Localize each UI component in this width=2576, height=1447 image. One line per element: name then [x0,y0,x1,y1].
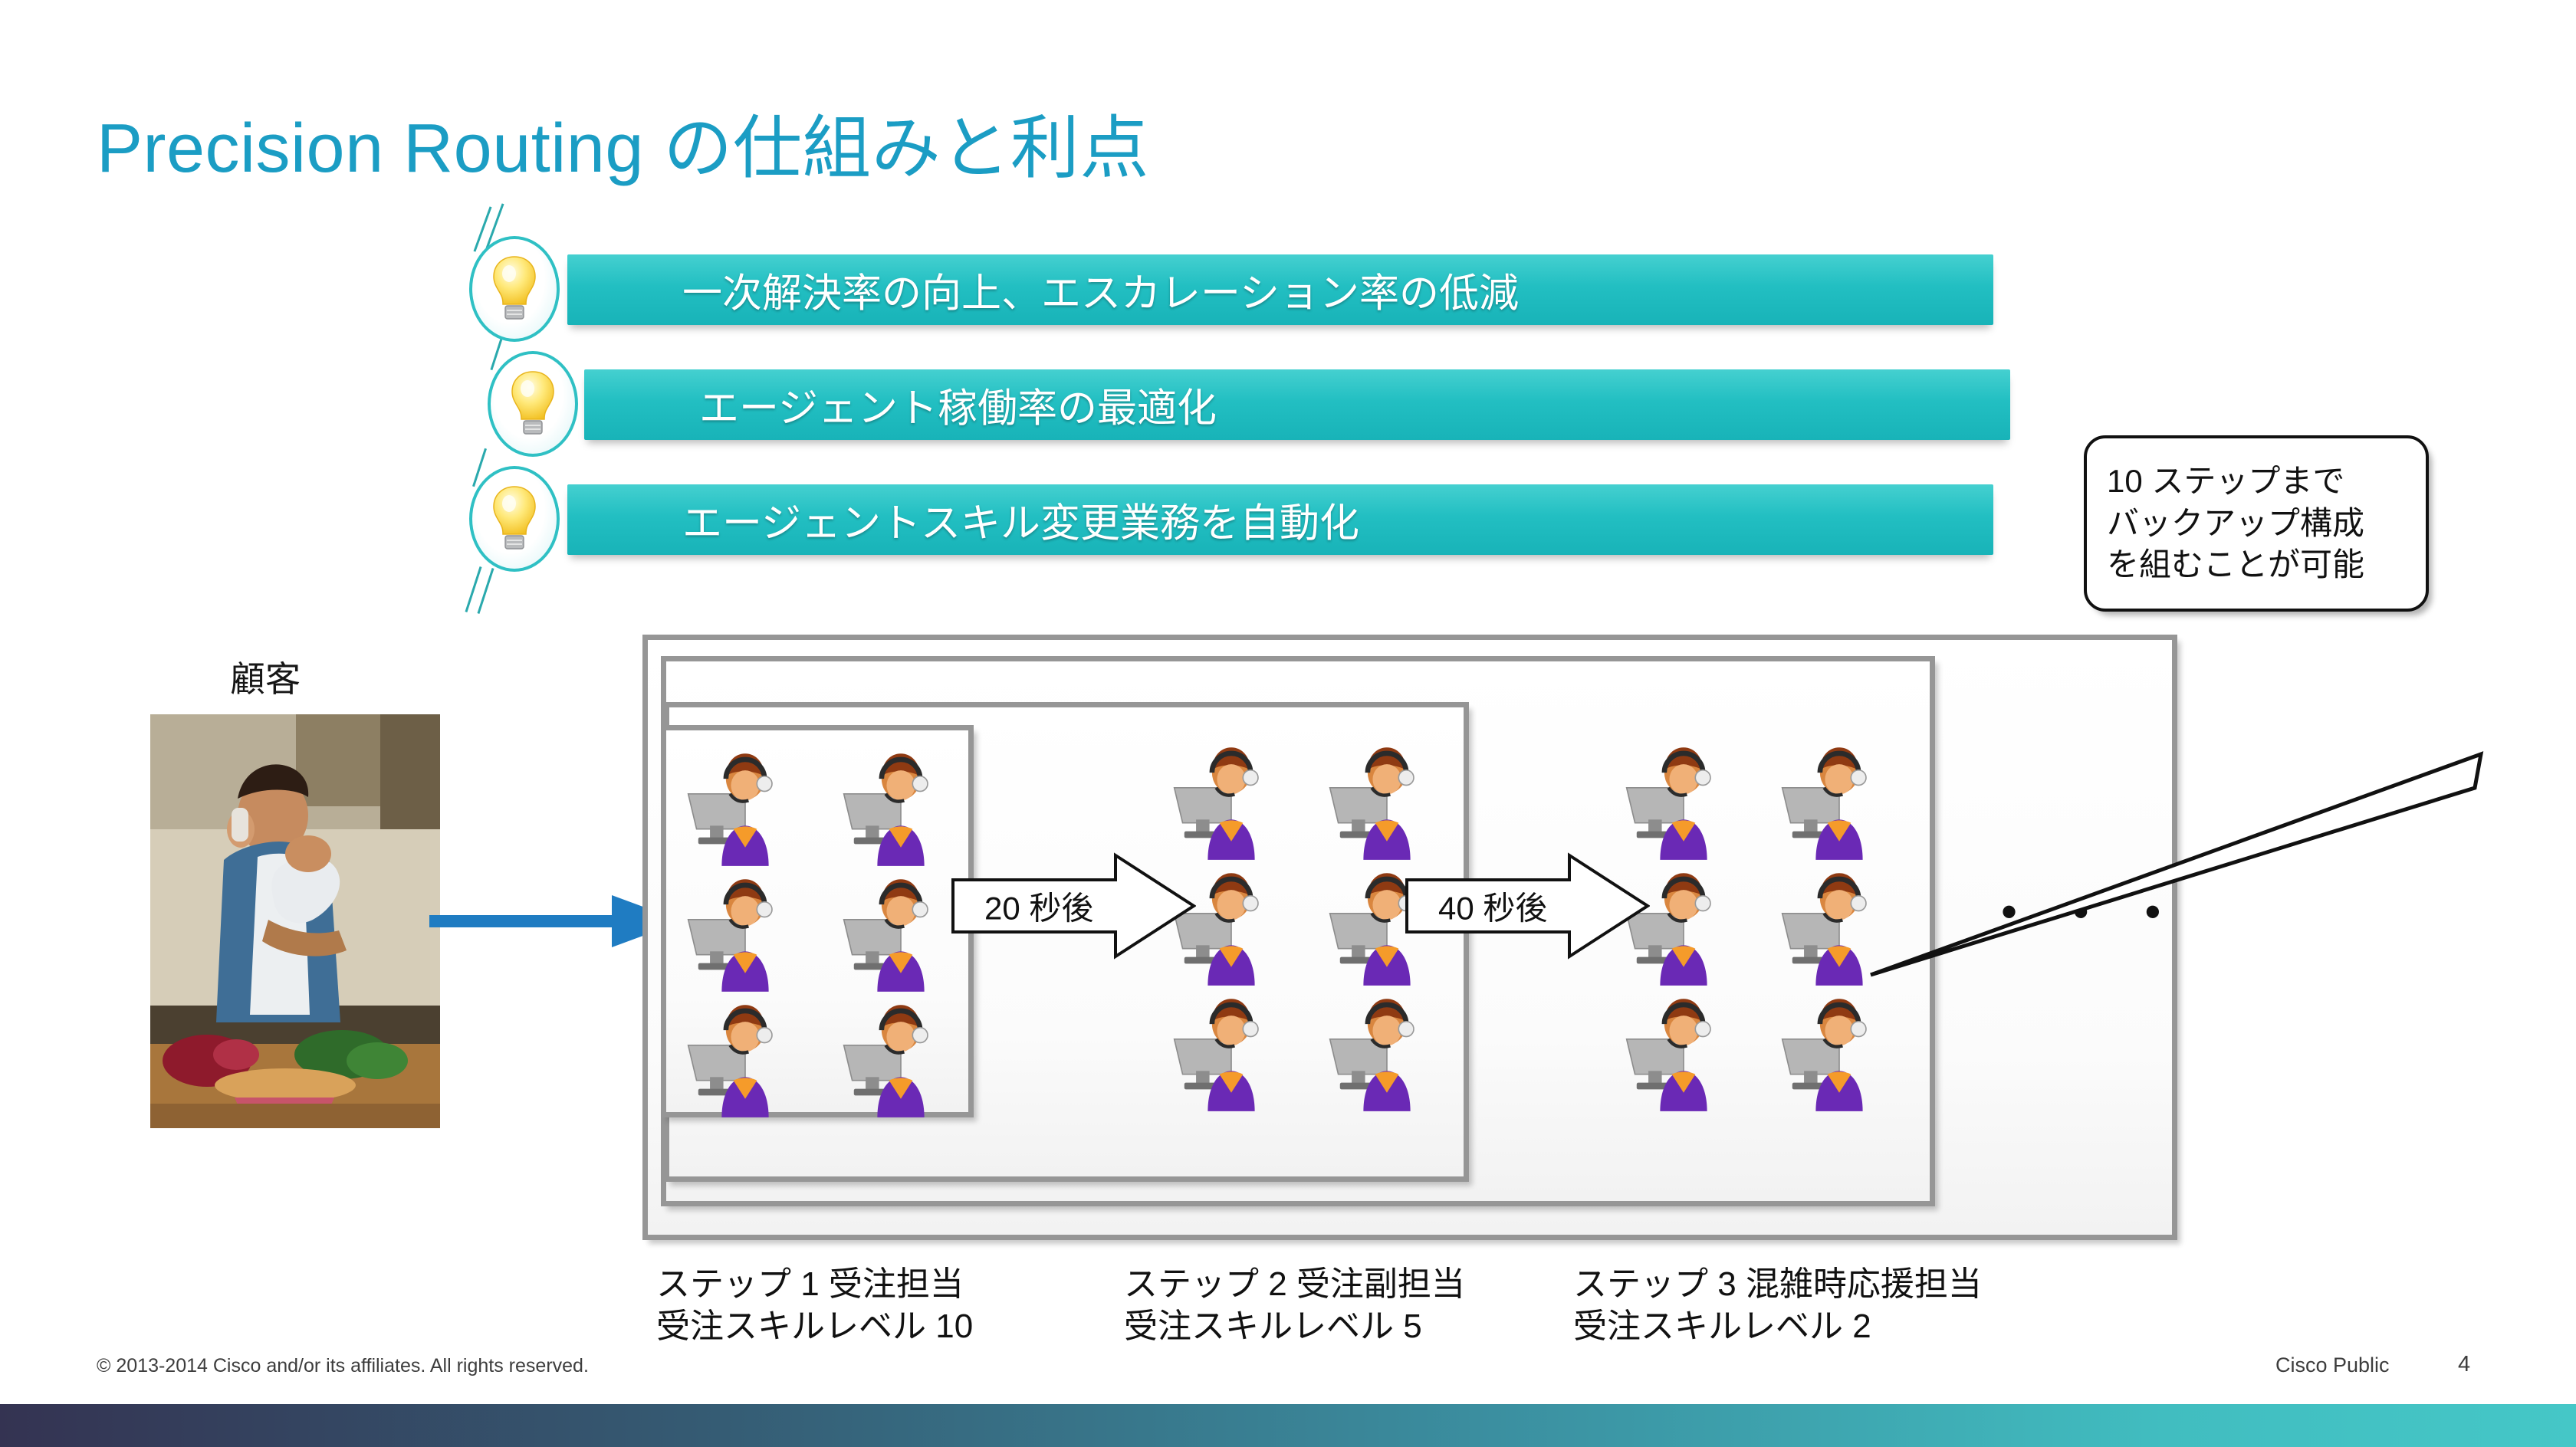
agent-icon [812,993,963,1119]
benefit-label-3: エージェントスキル変更業務を自動化 [682,491,1359,549]
agent-icon [1298,736,1449,861]
callout-bubble: 10 ステップまで バックアップ構成 を組むことが可能 [2084,435,2429,612]
agent-icon [1595,736,1746,861]
step-caption-2-line2: 受注スキルレベル 5 [1124,1305,1465,1347]
footer-copyright: © 2013-2014 Cisco and/or its affiliates.… [97,1355,589,1377]
footer-classification: Cisco Public [2275,1353,2390,1377]
benefit-label-2: エージェント稼働率の最適化 [699,376,1217,434]
lightbulb-icon [469,236,560,342]
callout-line-2: バックアップ構成 [2107,503,2406,545]
agent-icon [656,993,807,1119]
agent-icon [1595,987,1746,1113]
step-caption-3: ステップ 3 混雑時応援担当 受注スキルレベル 2 [1573,1263,1982,1347]
agent-icon [1298,987,1449,1113]
benefit-banner-1: 一次解決率の向上、エスカレーション率の低減 [567,254,1993,325]
page-title: Precision Routing の仕組みと利点 [97,92,1149,192]
lightbulb-icon [469,466,560,572]
benefit-banner-3: エージェントスキル変更業務を自動化 [567,484,1993,555]
step-caption-1: ステップ 1 受注担当 受注スキルレベル 10 [656,1263,973,1347]
step-caption-2-line1: ステップ 2 受注副担当 [1124,1263,1465,1305]
agent-icon [1750,987,1901,1113]
benefit-banner-2: エージェント稼働率の最適化 [584,369,2010,440]
agent-icon [812,742,963,868]
step-caption-3-line2: 受注スキルレベル 2 [1573,1305,1982,1347]
agent-icon [656,868,807,993]
callout-pointer [1863,751,2484,981]
step-caption-3-line1: ステップ 3 混雑時応援担当 [1573,1263,1982,1305]
benefit-label-1: 一次解決率の向上、エスカレーション率の低減 [682,261,1519,319]
slide-canvas: Precision Routing の仕組みと利点 一次解決率の向上、エスカレー… [0,0,2576,1447]
customer-label: 顧客 [230,651,301,702]
step-caption-1-line1: ステップ 1 受注担当 [656,1263,973,1305]
transition-label-2: 40 秒後 [1405,883,1581,930]
agent-icon [812,868,963,993]
lightbulb-icon [488,351,578,457]
agent-icon [1142,736,1293,861]
callout-line-3: を組むことが可能 [2107,544,2406,586]
step-caption-2: ステップ 2 受注副担当 受注スキルレベル 5 [1124,1263,1465,1347]
agent-icon [656,742,807,868]
step-caption-1-line2: 受注スキルレベル 10 [656,1305,973,1347]
transition-arrow-1: 20 秒後 [951,852,1196,960]
transition-arrow-2: 40 秒後 [1405,852,1650,960]
callout-line-1: 10 ステップまで [2107,461,2406,503]
bulb-wire [477,568,494,614]
agent-group-step-1 [656,742,963,1119]
agent-icon [1142,987,1293,1113]
customer-photo [150,714,440,1128]
transition-label-1: 20 秒後 [951,883,1127,930]
footer-gradient-bar [0,1404,2576,1447]
footer-page-number: 4 [2458,1352,2470,1377]
